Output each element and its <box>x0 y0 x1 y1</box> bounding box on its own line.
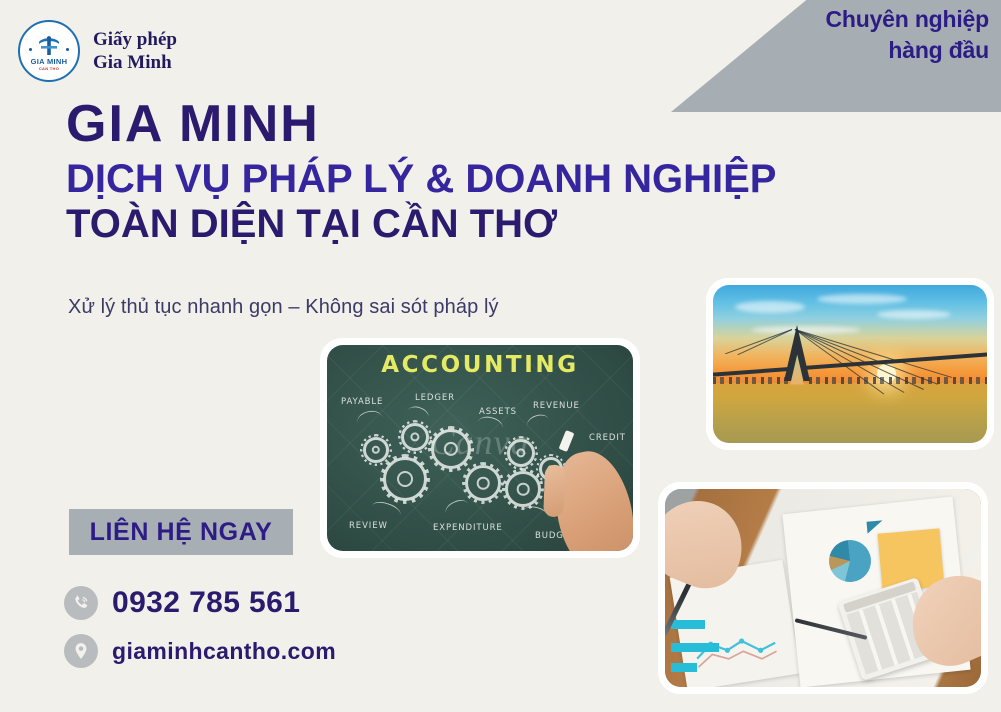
gear-icon <box>465 465 501 501</box>
chalkboard-photo-card: ACCOUNTING Canva PAYABLE LEDGER ASSETS R… <box>320 338 640 558</box>
arrow-icon <box>355 409 384 433</box>
chalk-label-ledger: LEDGER <box>415 393 455 403</box>
phone-icon <box>64 586 98 620</box>
corner-ribbon-text: Chuyên nghiệp hàng đầu <box>825 4 989 66</box>
cloud <box>735 301 805 313</box>
page-title: GIA MINH <box>66 98 776 150</box>
brand-line-1: Giấy phép <box>93 28 177 51</box>
bridge-photo <box>713 285 987 443</box>
logo-dot-right <box>66 48 69 51</box>
chalk-label-credit: CREDIT <box>589 433 626 443</box>
gear-icon <box>507 439 535 467</box>
city-skyline <box>713 377 987 384</box>
location-pin-icon <box>64 634 98 668</box>
bar-graphic <box>671 663 697 672</box>
river-water <box>713 383 987 443</box>
marketing-banner: Chuyên nghiệp hàng đầu GIA MINH CAN THO … <box>0 0 1001 712</box>
chalk-label-review: REVIEW <box>349 521 388 531</box>
contact-list: 0932 785 561 giaminhcantho.com <box>64 586 336 682</box>
chalk-label-revenue: REVENUE <box>533 401 580 411</box>
bridge-sunset-scene <box>713 285 987 443</box>
contact-row-website[interactable]: giaminhcantho.com <box>64 634 336 668</box>
gia-minh-circle-logo: GIA MINH CAN THO <box>18 20 80 82</box>
desk-photo <box>665 489 981 687</box>
contact-row-phone[interactable]: 0932 785 561 <box>64 586 336 620</box>
logo-wordmark: GIA MINH <box>31 58 68 66</box>
bar-graphic <box>671 643 719 652</box>
gear-icon <box>363 437 389 463</box>
chalkboard-photo: ACCOUNTING Canva PAYABLE LEDGER ASSETS R… <box>327 345 633 551</box>
ribbon-line-2: hàng đầu <box>825 35 989 66</box>
brand-name: Giấy phép Gia Minh <box>93 28 177 74</box>
gear-icon <box>383 457 427 501</box>
arrow-icon <box>443 497 471 520</box>
desk-photo-card <box>658 482 988 694</box>
bridge-photo-card <box>706 278 994 450</box>
brand-lockup[interactable]: GIA MINH CAN THO Giấy phép Gia Minh <box>18 20 177 82</box>
chalk-label-assets: ASSETS <box>479 407 517 417</box>
contact-now-button[interactable]: LIÊN HỆ NGAY <box>69 509 293 555</box>
brand-line-2: Gia Minh <box>93 51 177 74</box>
bar-graphic <box>671 620 705 629</box>
logo-figure-icon <box>36 35 62 57</box>
headline-block: GIA MINH DỊCH VỤ PHÁP LÝ & DOANH NGHIỆP … <box>66 98 776 247</box>
chalk-stick <box>559 430 575 452</box>
website-url: giaminhcantho.com <box>112 638 336 665</box>
gear-icon <box>505 471 541 507</box>
ribbon-line-1: Chuyên nghiệp <box>825 4 989 35</box>
chalk-label-expenditure: EXPENDITURE <box>433 523 503 533</box>
gear-icon <box>401 423 429 451</box>
tagline: Xử lý thủ tục nhanh gọn – Không sai sót … <box>68 296 499 319</box>
chalk-label-payable: PAYABLE <box>341 397 383 407</box>
logo-dot-left <box>29 48 32 51</box>
headline-line-3: TOÀN DIỆN TẠI CẦN THƠ <box>66 202 776 247</box>
chalkboard-title: ACCOUNTING <box>327 352 633 378</box>
logo-sub-wordmark: CAN THO <box>39 67 59 71</box>
accounting-desk-scene <box>665 489 981 687</box>
chalkboard-surface: ACCOUNTING Canva PAYABLE LEDGER ASSETS R… <box>327 345 633 551</box>
triangle-graphic <box>867 520 884 533</box>
gear-icon <box>431 429 471 469</box>
phone-number: 0932 785 561 <box>112 586 300 620</box>
headline-line-2: DỊCH VỤ PHÁP LÝ & DOANH NGHIỆP <box>66 157 776 202</box>
